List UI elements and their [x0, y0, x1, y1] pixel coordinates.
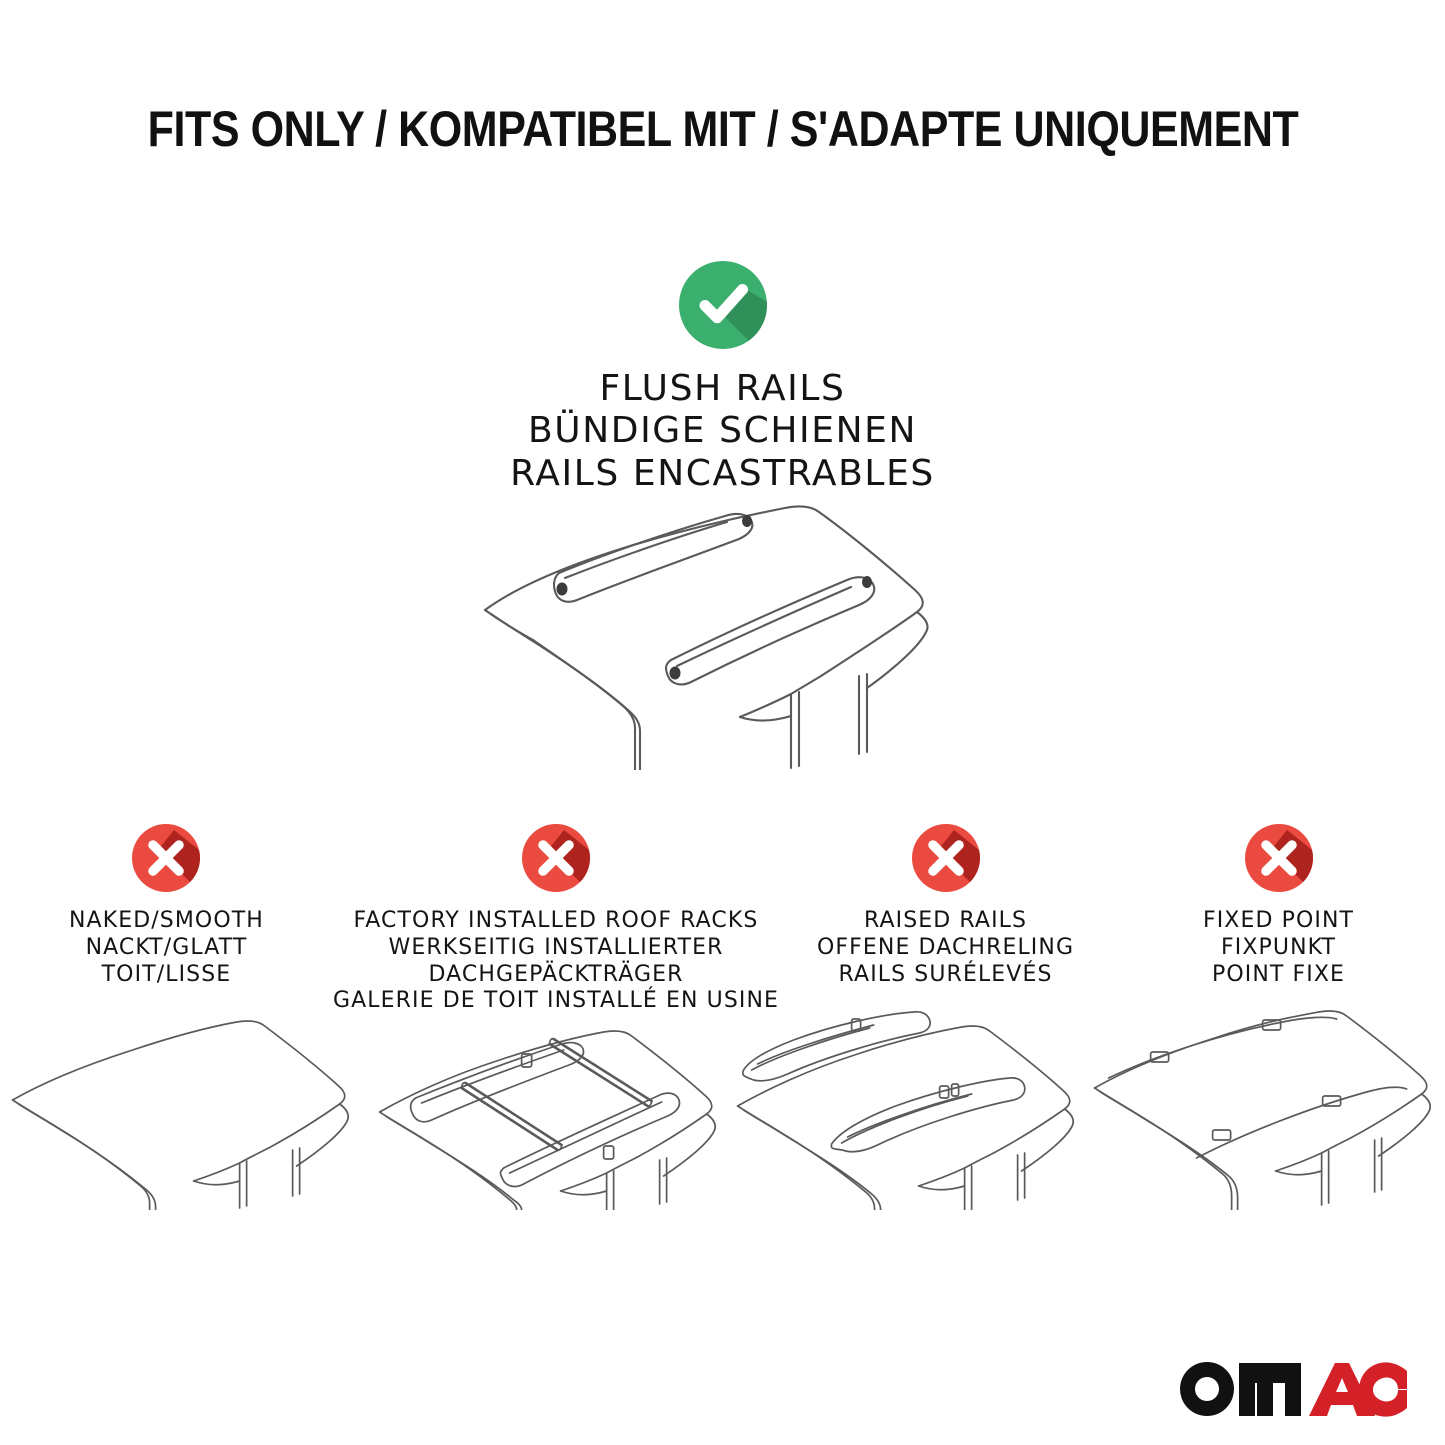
- incompatible-labels-raised-rails: RAISED RAILS OFFENE DACHRELING RAILS SUR…: [779, 908, 1112, 988]
- label-de-2: DACHGEPÄCKTRÄGER: [333, 962, 779, 989]
- page-title: FITS ONLY / KOMPATIBEL MIT / S'ADAPTE UN…: [0, 104, 1445, 154]
- incompatible-item-fixed-point: FIXED POINT FIXPUNKT POINT FIXE: [1112, 820, 1445, 988]
- car-roof-with-raised-rails-icon: [723, 1000, 1084, 1210]
- label-fr: TOIT/LISSE: [0, 962, 333, 989]
- incompatible-labels-fixed-point: FIXED POINT FIXPUNKT POINT FIXE: [1112, 908, 1445, 988]
- label-de: FIXPUNKT: [1112, 935, 1445, 962]
- compatible-label-en: FLUSH RAILS: [0, 368, 1445, 410]
- label-fr: RAILS SURÉLEVÉS: [779, 962, 1112, 989]
- compatible-label-de: BÜNDIGE SCHIENEN: [0, 410, 1445, 452]
- label-en: FACTORY INSTALLED ROOF RACKS: [333, 908, 779, 935]
- car-roof-bare-icon: [0, 1000, 361, 1210]
- incompatible-item-factory-roof-racks: FACTORY INSTALLED ROOF RACKS WERKSEITIG …: [333, 820, 779, 1015]
- compatible-section: FLUSH RAILS BÜNDIGE SCHIENEN RAILS ENCAS…: [0, 256, 1445, 495]
- red-x-circle-icon: [1241, 820, 1317, 896]
- omac-logo: [1177, 1349, 1407, 1423]
- incompatible-illustrations-row: [0, 1000, 1445, 1210]
- label-en: RAISED RAILS: [779, 908, 1112, 935]
- page-title-text: FITS ONLY / KOMPATIBEL MIT / S'ADAPTE UN…: [147, 104, 1298, 154]
- incompatible-labels-naked-smooth: NAKED/SMOOTH NACKT/GLATT TOIT/LISSE: [0, 908, 333, 988]
- red-x-circle-icon: [128, 820, 204, 896]
- label-fr: POINT FIXE: [1112, 962, 1445, 989]
- red-x-circle-icon: [518, 820, 594, 896]
- incompatible-item-naked-smooth: NAKED/SMOOTH NACKT/GLATT TOIT/LISSE: [0, 820, 333, 988]
- incompatible-item-raised-rails: RAISED RAILS OFFENE DACHRELING RAILS SUR…: [779, 820, 1112, 988]
- car-roof-with-flush-rails-icon: [455, 470, 1030, 770]
- label-de: NACKT/GLATT: [0, 935, 333, 962]
- incompatible-section: NAKED/SMOOTH NACKT/GLATT TOIT/LISSE FACT…: [0, 820, 1445, 1015]
- label-de: OFFENE DACHRELING: [779, 935, 1112, 962]
- green-check-circle-icon: [674, 256, 772, 354]
- label-en: FIXED POINT: [1112, 908, 1445, 935]
- red-x-circle-icon: [908, 820, 984, 896]
- car-roof-with-crossbars-icon: [361, 1000, 722, 1210]
- car-roof-with-fixed-points-icon: [1084, 1000, 1445, 1210]
- label-en: NAKED/SMOOTH: [0, 908, 333, 935]
- label-de-1: WERKSEITIG INSTALLIERTER: [333, 935, 779, 962]
